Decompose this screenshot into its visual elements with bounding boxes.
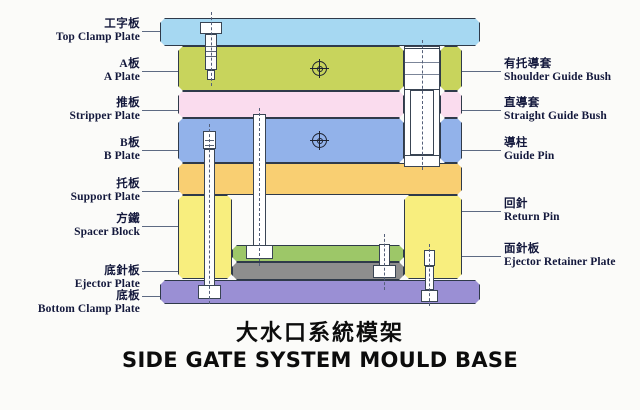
label-ejector-retainer-plate: 面針板 Ejector Retainer Plate: [504, 243, 616, 269]
title-english: SIDE GATE SYSTEM MOULD BASE: [0, 348, 640, 372]
plate-b-plate-right: [440, 118, 462, 163]
label-shoulder-guide-bush: 有托導套 Shoulder Guide Bush: [504, 58, 611, 84]
label-stripper-plate: 推板 Stripper Plate: [70, 97, 141, 123]
title-chinese: 大水口系統模架: [0, 315, 640, 347]
label-en: Spacer Block: [74, 226, 140, 239]
label-guide-pin: 導柱 Guide Pin: [504, 137, 554, 163]
label-straight-guide-bush: 直導套 Straight Guide Bush: [504, 97, 607, 123]
label-cn: A板: [104, 58, 140, 71]
label-cn: 有托導套: [504, 58, 611, 71]
center-target-icon-a-plate: [312, 61, 327, 76]
label-en: B Plate: [104, 150, 140, 163]
label-en: Bottom Clamp Plate: [38, 303, 140, 316]
guide-pin-centerline: [422, 40, 423, 170]
label-en: Return Pin: [504, 211, 560, 224]
plate-support-plate: [178, 163, 462, 195]
label-en: Guide Pin: [504, 150, 554, 163]
long-bolt-centerline: [209, 124, 210, 304]
label-en: Ejector Plate: [75, 278, 140, 291]
label-cn: 方鐵: [74, 213, 140, 226]
label-en: Stripper Plate: [70, 110, 141, 123]
label-cn: 直導套: [504, 97, 607, 110]
label-bottom-clamp-plate: 底板 Bottom Clamp Plate: [38, 290, 140, 316]
label-en: Top Clamp Plate: [56, 31, 140, 44]
label-return-pin: 回針 Return Pin: [504, 198, 560, 224]
label-en: Support Plate: [71, 191, 140, 204]
center-target-icon-b-plate: [312, 133, 327, 148]
return-pin-centerline: [384, 234, 385, 290]
label-cn: B板: [104, 137, 140, 150]
mould-base-diagram: 工字板 Top Clamp Plate A板 A Plate 推板 Stripp…: [0, 0, 640, 410]
top-clamp-bolt-centerline: [211, 12, 212, 86]
plate-a-plate-right: [440, 46, 462, 91]
label-en: Ejector Retainer Plate: [504, 256, 616, 269]
diagram-title: 大水口系統模架 SIDE GATE SYSTEM MOULD BASE: [0, 315, 640, 372]
ejector-bolt-centerline: [429, 244, 430, 306]
label-cn: 底針板: [75, 265, 140, 278]
label-cn: 托板: [71, 178, 140, 191]
label-cn: 回針: [504, 198, 560, 211]
label-cn: 底板: [38, 290, 140, 303]
label-cn: 工字板: [56, 18, 140, 31]
label-cn: 導柱: [504, 137, 554, 150]
plate-stripper-plate: [178, 91, 404, 118]
label-cn: 推板: [70, 97, 141, 110]
label-b-plate: B板 B Plate: [104, 137, 140, 163]
label-support-plate: 托板 Support Plate: [71, 178, 140, 204]
label-a-plate: A板 A Plate: [104, 58, 140, 84]
plate-stripper-plate-right: [440, 91, 462, 118]
label-ejector-plate: 底針板 Ejector Plate: [75, 265, 140, 291]
center-sleeve-centerline: [259, 108, 260, 266]
label-en: Shoulder Guide Bush: [504, 71, 611, 84]
label-top-clamp-plate: 工字板 Top Clamp Plate: [56, 18, 140, 44]
label-en: A Plate: [104, 71, 140, 84]
label-spacer-block: 方鐵 Spacer Block: [74, 213, 140, 239]
label-cn: 面針板: [504, 243, 616, 256]
label-en: Straight Guide Bush: [504, 110, 607, 123]
